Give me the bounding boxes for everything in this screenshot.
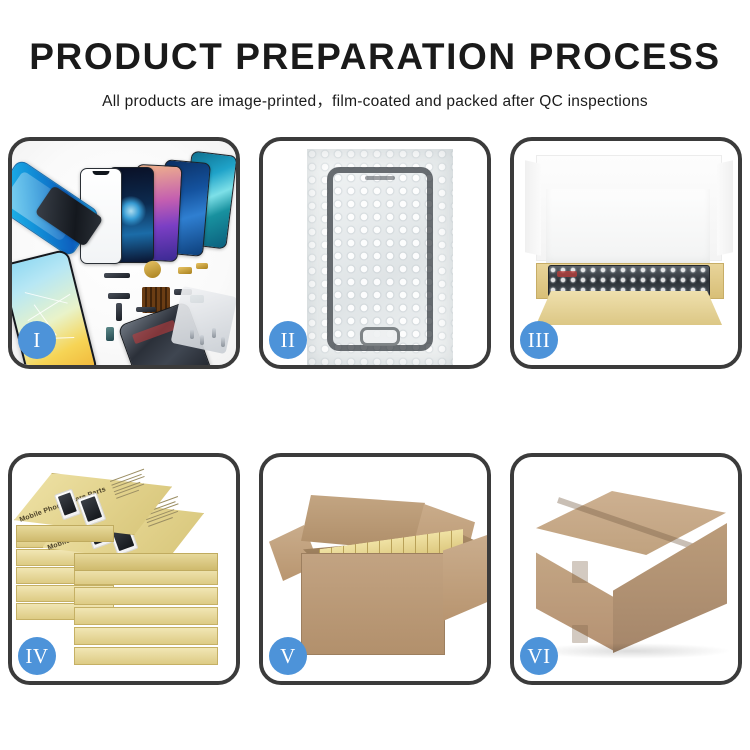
screws-icon xyxy=(188,327,230,353)
process-step-grid: I II xyxy=(0,137,750,692)
step-badge-1: I xyxy=(18,321,56,359)
step-badge-4: IV xyxy=(18,637,56,675)
step-badge-3: III xyxy=(520,321,558,359)
bubble-wrap-icon xyxy=(307,149,453,365)
process-step-5: V xyxy=(259,453,491,685)
process-step-6: VI xyxy=(510,453,742,685)
step-badge-5: V xyxy=(269,637,307,675)
phone-screen-fan-icon xyxy=(64,151,236,256)
process-step-2: II xyxy=(259,137,491,369)
step-badge-6: VI xyxy=(520,637,558,675)
header: PRODUCT PREPARATION PROCESS All products… xyxy=(0,0,750,111)
step-badge-2: II xyxy=(269,321,307,359)
process-step-3: III xyxy=(510,137,742,369)
product-preparation-infographic: PRODUCT PREPARATION PROCESS All products… xyxy=(0,0,750,750)
foam-padding-icon xyxy=(546,189,710,265)
carton-handle-tab-top-icon xyxy=(572,561,588,583)
carton-shadow xyxy=(532,643,732,659)
kraft-tray-front-icon xyxy=(536,291,722,325)
carton-tape-seam-icon xyxy=(558,497,708,547)
process-step-4: Mobile Phone Spare Parts Mobile Phone Sp… xyxy=(8,453,240,685)
process-step-1: I xyxy=(8,137,240,369)
page-subtitle: All products are image-printed，film-coat… xyxy=(0,89,750,111)
wrapped-screen-icon xyxy=(327,167,433,351)
carton-handle-tab-bottom-icon xyxy=(572,625,588,643)
page-title: PRODUCT PREPARATION PROCESS xyxy=(0,38,750,75)
carton-body-icon xyxy=(301,553,445,655)
